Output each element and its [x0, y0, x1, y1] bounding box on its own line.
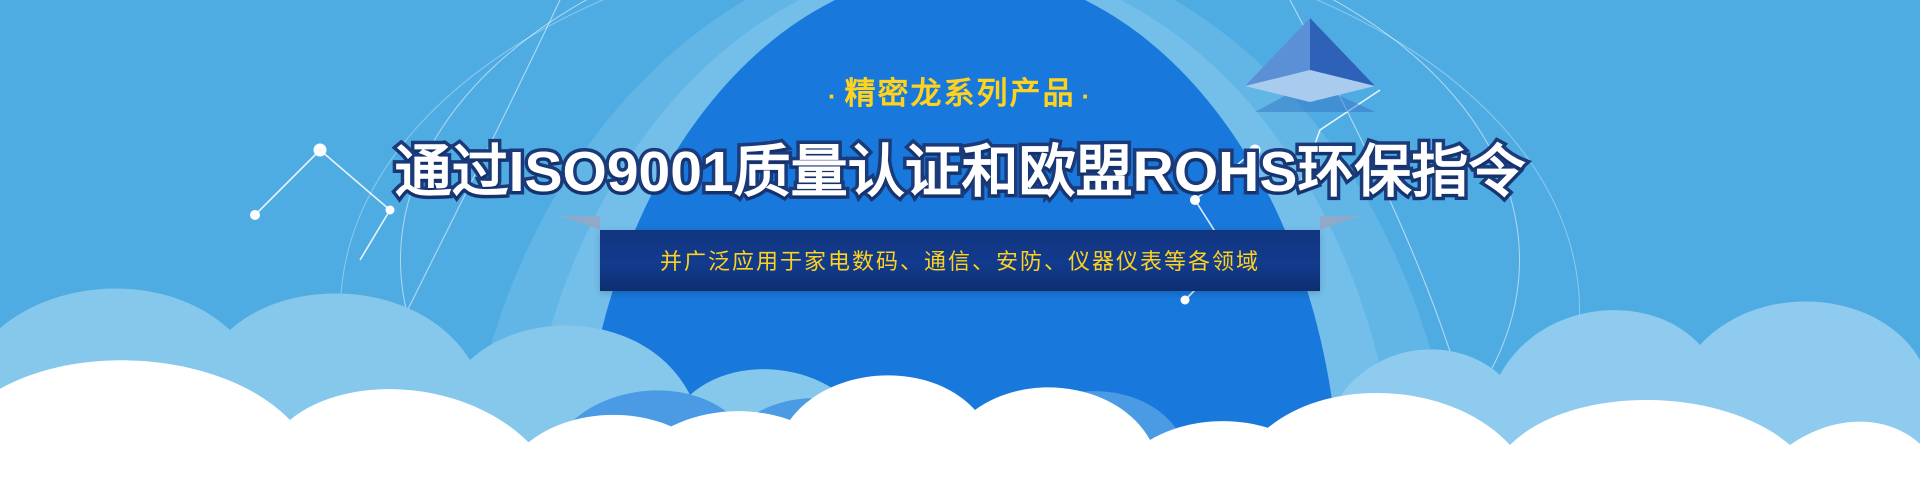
eyebrow-right-dot-icon: ·: [1076, 81, 1099, 111]
eyebrow-label: ·精密龙系列产品·: [0, 78, 1920, 109]
promo-banner: ·精密龙系列产品· 通过ISO9001质量认证和欧盟ROHS环保指令 并广泛应用…: [0, 0, 1920, 480]
eyebrow-text: 精密龙系列产品: [845, 76, 1076, 111]
eyebrow-left-dot-icon: ·: [822, 81, 845, 111]
ribbon-label: 并广泛应用于家电数码、通信、安防、仪器仪表等各领域: [660, 249, 1260, 274]
ribbon-banner: 并广泛应用于家电数码、通信、安防、仪器仪表等各领域: [600, 230, 1320, 291]
ribbon-fold-left-icon: [560, 216, 600, 230]
banner-content: ·精密龙系列产品· 通过ISO9001质量认证和欧盟ROHS环保指令 并广泛应用…: [0, 0, 1920, 291]
ribbon-fold-right-icon: [1320, 216, 1360, 230]
page-title: 通过ISO9001质量认证和欧盟ROHS环保指令: [0, 141, 1920, 204]
ribbon-body: 并广泛应用于家电数码、通信、安防、仪器仪表等各领域: [600, 230, 1320, 291]
